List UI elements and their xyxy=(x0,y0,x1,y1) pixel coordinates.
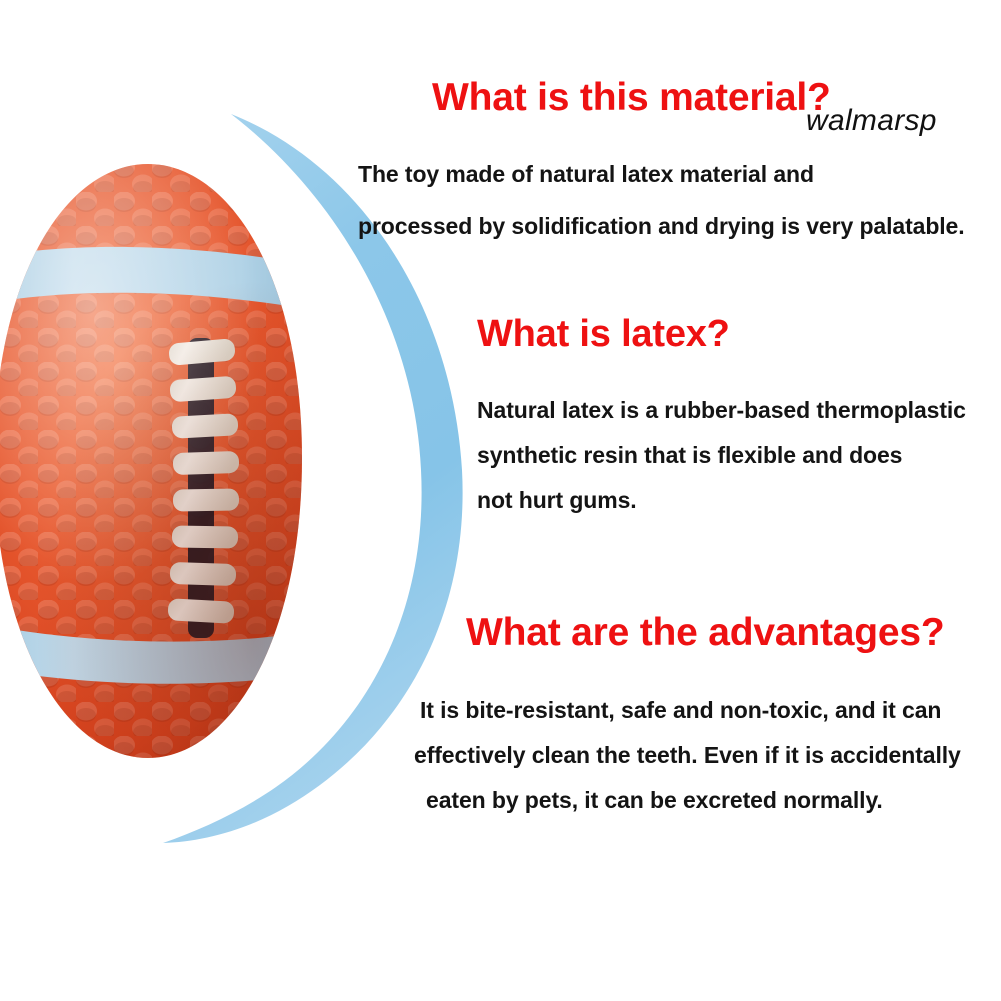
product-image-football-toy xyxy=(0,158,334,770)
advantages-body-line-3: eaten by pets, it can be excreted normal… xyxy=(426,789,961,812)
heading-latex: What is latex? xyxy=(477,315,966,353)
advantages-body-line-2: effectively clean the teeth. Even if it … xyxy=(414,744,961,767)
heading-advantages: What are the advantages? xyxy=(466,613,961,652)
section-material: What is this material? The toy made of n… xyxy=(358,78,965,238)
section-advantages: What are the advantages? It is bite-resi… xyxy=(466,613,961,812)
latex-body-line-3: not hurt gums. xyxy=(477,489,966,512)
material-body-line-2: processed by solidification and drying i… xyxy=(358,215,965,238)
football-illustration xyxy=(0,158,334,770)
watermark-text: walmarsp xyxy=(806,104,937,138)
latex-body-line-2: synthetic resin that is flexible and doe… xyxy=(477,444,966,467)
advantages-body-line-1: It is bite-resistant, safe and non-toxic… xyxy=(420,699,961,722)
latex-body-line-1: Natural latex is a rubber-based thermopl… xyxy=(477,399,966,422)
material-body-line-1: The toy made of natural latex material a… xyxy=(358,163,965,186)
ball-body xyxy=(0,158,334,770)
infographic-page: What is this material? The toy made of n… xyxy=(0,0,1001,1001)
section-latex: What is latex? Natural latex is a rubber… xyxy=(477,315,966,512)
